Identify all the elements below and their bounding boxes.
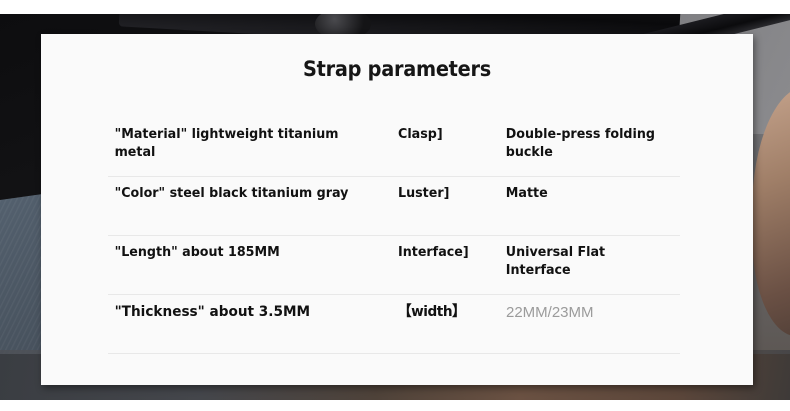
spec-key: Luster] [398,185,496,203]
spec-table: "Material" lightweight titanium metal Cl… [108,118,680,354]
spec-value: 22MM/23MM [502,303,680,323]
spec-value: Universal Flat Interface [502,244,669,280]
spec-label: "Length" about 185MM [108,244,381,262]
spec-key: Clasp] [398,126,496,144]
page-title: Strap parameters [69,57,724,81]
spec-label: "Material" lightweight titanium metal [108,126,381,162]
spec-card: Strap parameters "Material" lightweight … [41,34,753,385]
spec-key: Interface] [398,244,496,262]
table-row: "Color" steel black titanium gray Luster… [108,177,680,236]
spec-key: 【width】 [398,303,496,322]
spec-value: Double-press folding buckle [502,126,669,162]
product-spec-screenshot: Strap parameters "Material" lightweight … [0,0,790,411]
spec-label: "Color" steel black titanium gray [108,185,381,203]
page-margin-top [0,0,790,14]
spec-value: Matte [502,185,669,203]
spec-label: "Thickness" about 3.5MM [108,303,381,322]
page-margin-bottom [0,400,790,411]
table-row: "Length" about 185MM Interface] Universa… [108,236,680,295]
table-row: "Material" lightweight titanium metal Cl… [108,118,680,177]
table-row: "Thickness" about 3.5MM 【width】 22MM/23M… [108,295,680,354]
